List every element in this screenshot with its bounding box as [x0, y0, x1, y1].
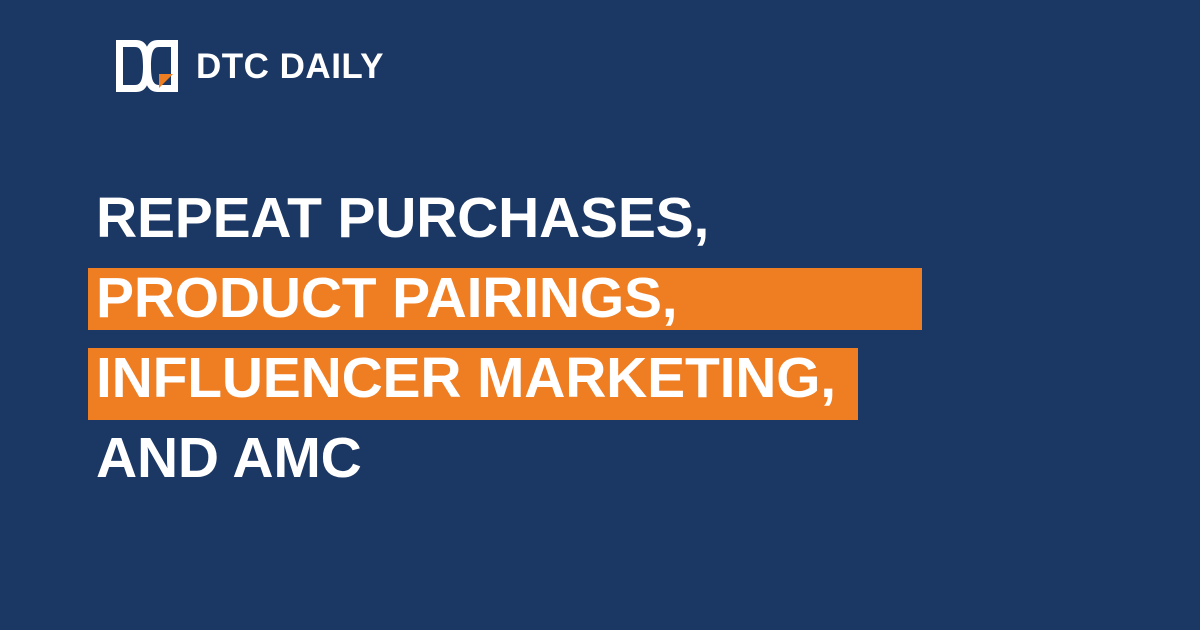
headline-line-2-text: PRODUCT PAIRINGS, — [96, 258, 677, 338]
headline-block: REPEAT PURCHASES, PRODUCT PAIRINGS, INFL… — [88, 178, 1148, 498]
social-share-card: DTC DAILY REPEAT PURCHASES, PRODUCT PAIR… — [0, 0, 1200, 630]
headline-line-3: INFLUENCER MARKETING, — [88, 338, 1148, 418]
headline-line-4-text: AND AMC — [96, 418, 362, 498]
headline-line-2: PRODUCT PAIRINGS, — [88, 258, 1148, 338]
headline-line-4: AND AMC — [88, 418, 1148, 498]
headline-line-3-text: INFLUENCER MARKETING, — [96, 338, 836, 418]
brand-name: DTC DAILY — [196, 49, 384, 84]
headline-line-1-text: REPEAT PURCHASES, — [96, 178, 709, 258]
headline-line-1: REPEAT PURCHASES, — [88, 178, 1148, 258]
brand-lockup: DTC DAILY — [116, 40, 384, 92]
open-book-logo-icon — [116, 40, 178, 92]
